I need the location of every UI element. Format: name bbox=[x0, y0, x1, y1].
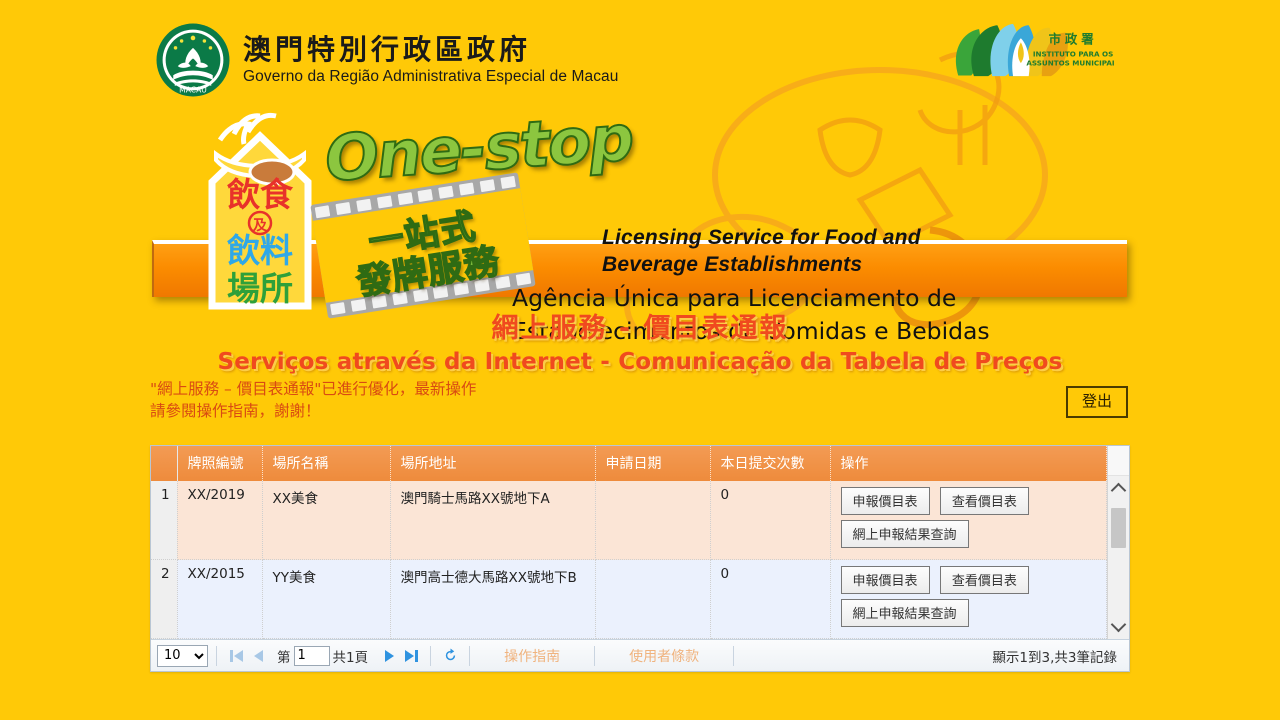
column-header-actions[interactable]: 操作 bbox=[830, 446, 1107, 481]
pager-divider-5 bbox=[733, 646, 734, 666]
cell-license-no: XX/2019 bbox=[177, 481, 262, 560]
records-grid-panel: 牌照編號 場所名稱 場所地址 申請日期 本日提交次數 操作 1 XX/2019 … bbox=[150, 445, 1130, 672]
svg-text:飲食: 飲食 bbox=[227, 175, 294, 214]
government-header: MACAU 澳門特別行政區政府 Governo da Região Admini… bbox=[155, 22, 618, 98]
first-page-button[interactable] bbox=[225, 645, 247, 667]
record-count-status: 顯示1到3,共3筆記錄 bbox=[992, 646, 1123, 666]
row-index: 1 bbox=[151, 481, 177, 560]
column-header-index[interactable] bbox=[151, 446, 177, 481]
svg-text:MACAU: MACAU bbox=[179, 86, 207, 95]
iam-title-pt-1: INSTITUTO PARA OS bbox=[1033, 50, 1113, 59]
user-terms-link[interactable]: 使用者條款 bbox=[603, 646, 725, 666]
first-page-icon bbox=[230, 650, 233, 662]
banner-title-en-line1: Licensing Service for Food and bbox=[602, 225, 921, 252]
chevron-up-icon bbox=[1111, 483, 1127, 499]
last-page-button[interactable] bbox=[400, 645, 422, 667]
scrollbar-thumb[interactable] bbox=[1111, 508, 1126, 548]
svg-text:場所: 場所 bbox=[227, 269, 293, 308]
optimization-notice: "網上服務 – 價目表通報"已進行優化，最新操作 請參閱操作指南，謝謝！ bbox=[150, 378, 476, 423]
next-page-icon bbox=[385, 650, 394, 662]
prev-page-button[interactable] bbox=[247, 645, 269, 667]
records-table: 牌照編號 場所名稱 場所地址 申請日期 本日提交次數 操作 1 XX/2019 … bbox=[151, 446, 1107, 639]
svg-text:飲料: 飲料 bbox=[227, 231, 293, 270]
page-title-cn: 網上服務 - 價目表通報 bbox=[0, 306, 1280, 345]
cell-submit-count: 0 bbox=[710, 481, 830, 560]
cell-actions: 申報價目表 查看價目表 網上申報結果查詢 bbox=[830, 481, 1107, 560]
column-header-apply-date[interactable]: 申請日期 bbox=[595, 446, 710, 481]
banner-title-en-line2: Beverage Establishments bbox=[602, 252, 921, 279]
gov-title-cn: 澳門特別行政區政府 bbox=[243, 34, 618, 66]
row-index: 2 bbox=[151, 560, 177, 639]
next-page-button[interactable] bbox=[378, 645, 400, 667]
scroll-down-button[interactable] bbox=[1108, 613, 1129, 639]
column-header-submit-count[interactable]: 本日提交次數 bbox=[710, 446, 830, 481]
cell-venue-address: 澳門高士德大馬路XX號地下B bbox=[390, 560, 595, 639]
table-row[interactable]: 2 XX/2015 YY美食 澳門高士德大馬路XX號地下B 0 申報價目表 查看… bbox=[151, 560, 1107, 639]
declare-price-list-button[interactable]: 申報價目表 bbox=[841, 566, 930, 594]
notice-line-2: 請參閱操作指南，謝謝！ bbox=[150, 400, 476, 422]
cell-license-no: XX/2015 bbox=[177, 560, 262, 639]
table-header-row: 牌照編號 場所名稱 場所地址 申請日期 本日提交次數 操作 bbox=[151, 446, 1107, 481]
cell-venue-name: YY美食 bbox=[262, 560, 390, 639]
banner-title-en: Licensing Service for Food and Beverage … bbox=[602, 225, 921, 279]
operation-manual-link[interactable]: 操作指南 bbox=[478, 646, 586, 666]
column-header-venue-name[interactable]: 場所名稱 bbox=[262, 446, 390, 481]
declare-price-list-button[interactable]: 申報價目表 bbox=[841, 487, 930, 515]
cell-submit-count: 0 bbox=[710, 560, 830, 639]
cell-venue-name: XX美食 bbox=[262, 481, 390, 560]
iam-logo: 市政署 INSTITUTO PARA OS ASSUNTOS MUNICIPAI… bbox=[945, 20, 1115, 82]
cell-apply-date bbox=[595, 481, 710, 560]
logout-button[interactable]: 登出 bbox=[1066, 386, 1128, 418]
grid-vertical-scrollbar[interactable] bbox=[1107, 446, 1129, 639]
iam-title-pt-2: ASSUNTOS MUNICIPAIS bbox=[1026, 59, 1115, 68]
page-title: 網上服務 - 價目表通報 Serviços através da Interne… bbox=[0, 306, 1280, 375]
view-price-list-button[interactable]: 查看價目表 bbox=[940, 566, 1029, 594]
page-prefix-label: 第 bbox=[277, 646, 291, 666]
table-row[interactable]: 1 XX/2019 XX美食 澳門騎士馬路XX號地下A 0 申報價目表 查看價目… bbox=[151, 481, 1107, 560]
scrollbar-header-spacer bbox=[1108, 446, 1129, 476]
iam-title-cn: 市政署 bbox=[1049, 31, 1098, 46]
online-result-query-button[interactable]: 網上申報結果查詢 bbox=[841, 520, 969, 548]
notice-line-1: "網上服務 – 價目表通報"已進行優化，最新操作 bbox=[150, 378, 476, 400]
page-title-pt: Serviços através da Internet - Comunicaç… bbox=[0, 349, 1280, 375]
cell-actions: 申報價目表 查看價目表 網上申報結果查詢 bbox=[830, 560, 1107, 639]
cell-venue-address: 澳門騎士馬路XX號地下A bbox=[390, 481, 595, 560]
page-size-select[interactable]: 10 20 50 100 bbox=[157, 645, 208, 667]
online-result-query-button[interactable]: 網上申報結果查詢 bbox=[841, 599, 969, 627]
view-price-list-button[interactable]: 查看價目表 bbox=[940, 487, 1029, 515]
macau-sar-emblem-icon: MACAU bbox=[155, 22, 231, 98]
pager-divider-4 bbox=[594, 646, 595, 666]
scroll-up-button[interactable] bbox=[1108, 476, 1129, 502]
refresh-icon bbox=[443, 648, 458, 663]
pagination-toolbar: 10 20 50 100 第 共1頁 操作指南 使用者條款 bbox=[151, 639, 1129, 671]
column-header-license-no[interactable]: 牌照編號 bbox=[177, 446, 262, 481]
page-number-input[interactable] bbox=[294, 646, 330, 666]
pager-divider-2 bbox=[430, 646, 431, 666]
pager-divider bbox=[216, 646, 217, 666]
last-page-icon bbox=[405, 650, 414, 662]
cell-apply-date bbox=[595, 560, 710, 639]
column-header-venue-address[interactable]: 場所地址 bbox=[390, 446, 595, 481]
prev-page-icon bbox=[254, 650, 263, 662]
food-beverage-house-logo-icon: 飲食 及 飲料 場所 bbox=[190, 110, 330, 320]
gov-title-pt: Governo da Região Administrativa Especia… bbox=[243, 68, 618, 86]
pager-divider-3 bbox=[469, 646, 470, 666]
refresh-button[interactable] bbox=[439, 645, 461, 667]
page-total-label: 共1頁 bbox=[333, 646, 369, 666]
chevron-down-icon bbox=[1111, 617, 1127, 633]
